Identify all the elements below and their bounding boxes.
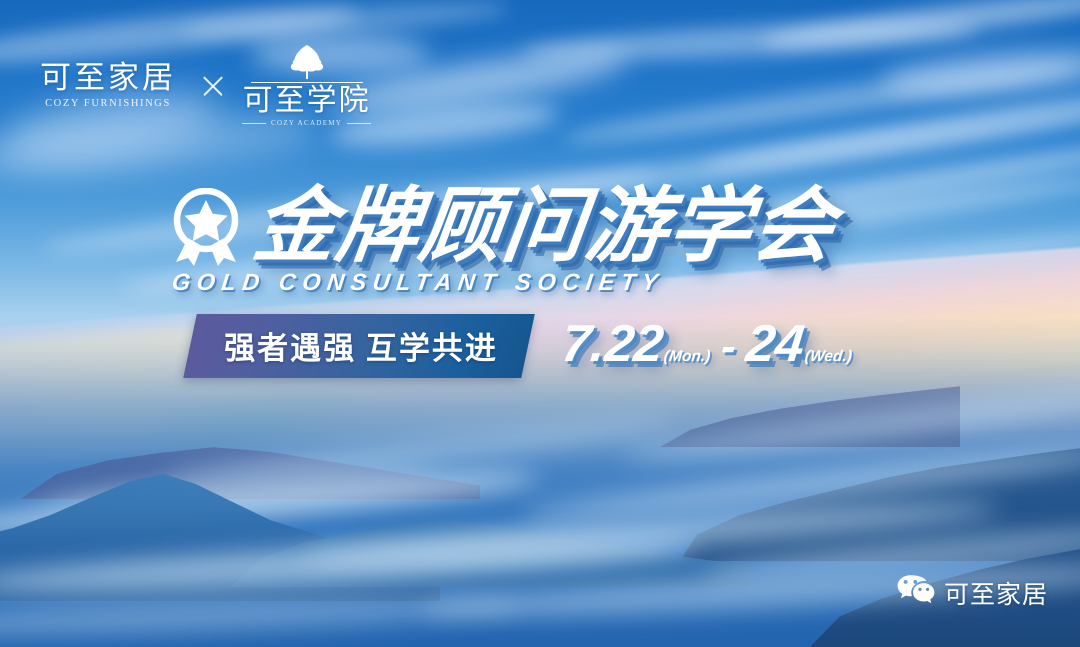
brand-secondary-en-wrap: COZY ACADEMY — [242, 119, 371, 127]
cross-separator-icon — [190, 63, 236, 109]
cozy-furnishings-logo[interactable]: 可至家居 COZY FURNISHINGS — [40, 62, 176, 109]
date-end-day: (Wed.) — [804, 348, 853, 366]
promotional-banner: 可至家居 COZY FURNISHINGS 可至学院 COZY ACADEMY — [0, 0, 1080, 647]
date-start-day: (Mon.) — [663, 348, 711, 366]
page-title: 金牌顾问游学会 — [249, 188, 839, 265]
brand-secondary-cn: 可至学院 — [243, 84, 371, 117]
hero-title-block: 金牌顾问游学会 GOLD CONSULTANT SOCIETY — [168, 186, 835, 296]
hero-title-row: 金牌顾问游学会 — [168, 186, 835, 268]
wechat-badge[interactable]: 可至家居 — [897, 574, 1048, 611]
slogan-text: 强者遇强 互学共进 — [224, 323, 498, 368]
page-subtitle: GOLD CONSULTANT SOCIETY — [170, 269, 836, 296]
event-date: 7.22 (Mon.) - 24 (Wed.) — [559, 314, 857, 374]
slogan-banner: 强者遇强 互学共进 — [183, 314, 534, 378]
wechat-account-name: 可至家居 — [944, 575, 1048, 611]
brand-primary-en: COZY FURNISHINGS — [45, 98, 171, 109]
date-start-number: 7.22 — [559, 314, 667, 374]
medal-star-icon — [168, 188, 244, 268]
cozy-academy-logo[interactable]: 可至学院 COZY ACADEMY — [242, 44, 371, 127]
brand-secondary-en: COZY ACADEMY — [271, 119, 342, 127]
slogan-date-row: 强者遇强 互学共进 7.22 (Mon.) - 24 (Wed.) — [190, 314, 853, 378]
brand-primary-cn: 可至家居 — [40, 62, 176, 95]
date-end-number: 24 — [743, 314, 807, 374]
logo-dash-right — [347, 123, 371, 124]
wechat-icon — [897, 574, 935, 611]
date-dash: - — [719, 322, 739, 372]
tree-icon — [287, 44, 327, 80]
logo-dash-left — [242, 123, 266, 124]
cobrand-lockup: 可至家居 COZY FURNISHINGS 可至学院 COZY ACADEMY — [40, 44, 371, 127]
